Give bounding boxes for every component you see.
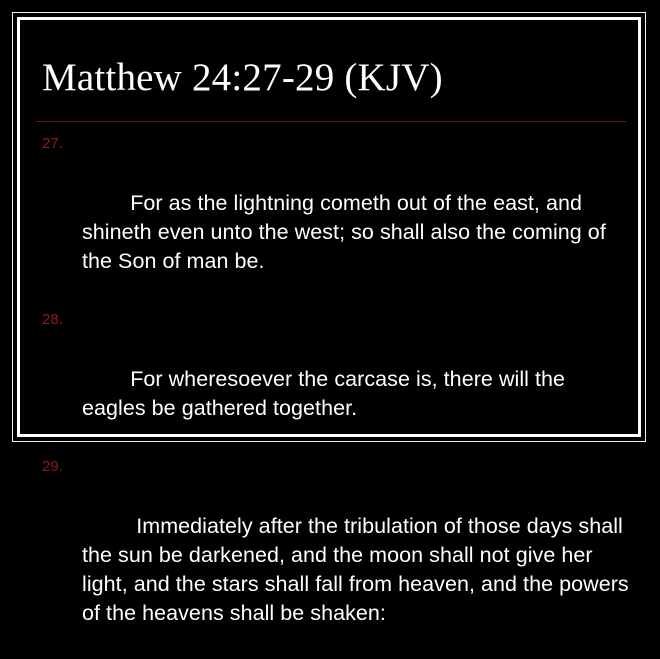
verse-text: For as the lightning cometh out of the e… bbox=[82, 191, 612, 273]
verse-item: 27. For as the lightning cometh out of t… bbox=[28, 131, 630, 305]
slide-content: Matthew 24:27-29 (KJV) 27. For as the li… bbox=[28, 28, 630, 425]
verse-number: 29. bbox=[42, 457, 76, 477]
slide-title: Matthew 24:27-29 (KJV) bbox=[42, 55, 443, 101]
verse-number: 28. bbox=[42, 310, 76, 330]
verse-number: 27. bbox=[42, 134, 76, 154]
verse-text: Immediately after the tribulation of tho… bbox=[82, 514, 635, 625]
verse-item: 28. For wheresoever the carcase is, ther… bbox=[28, 307, 630, 452]
verse-item: 29. Immediately after the tribulation of… bbox=[28, 454, 630, 657]
verse-list: 27. For as the lightning cometh out of t… bbox=[28, 131, 630, 659]
presentation-slide: Matthew 24:27-29 (KJV) 27. For as the li… bbox=[0, 0, 660, 495]
verse-text: For wheresoever the carcase is, there wi… bbox=[82, 367, 571, 420]
title-divider-rule bbox=[36, 121, 626, 122]
